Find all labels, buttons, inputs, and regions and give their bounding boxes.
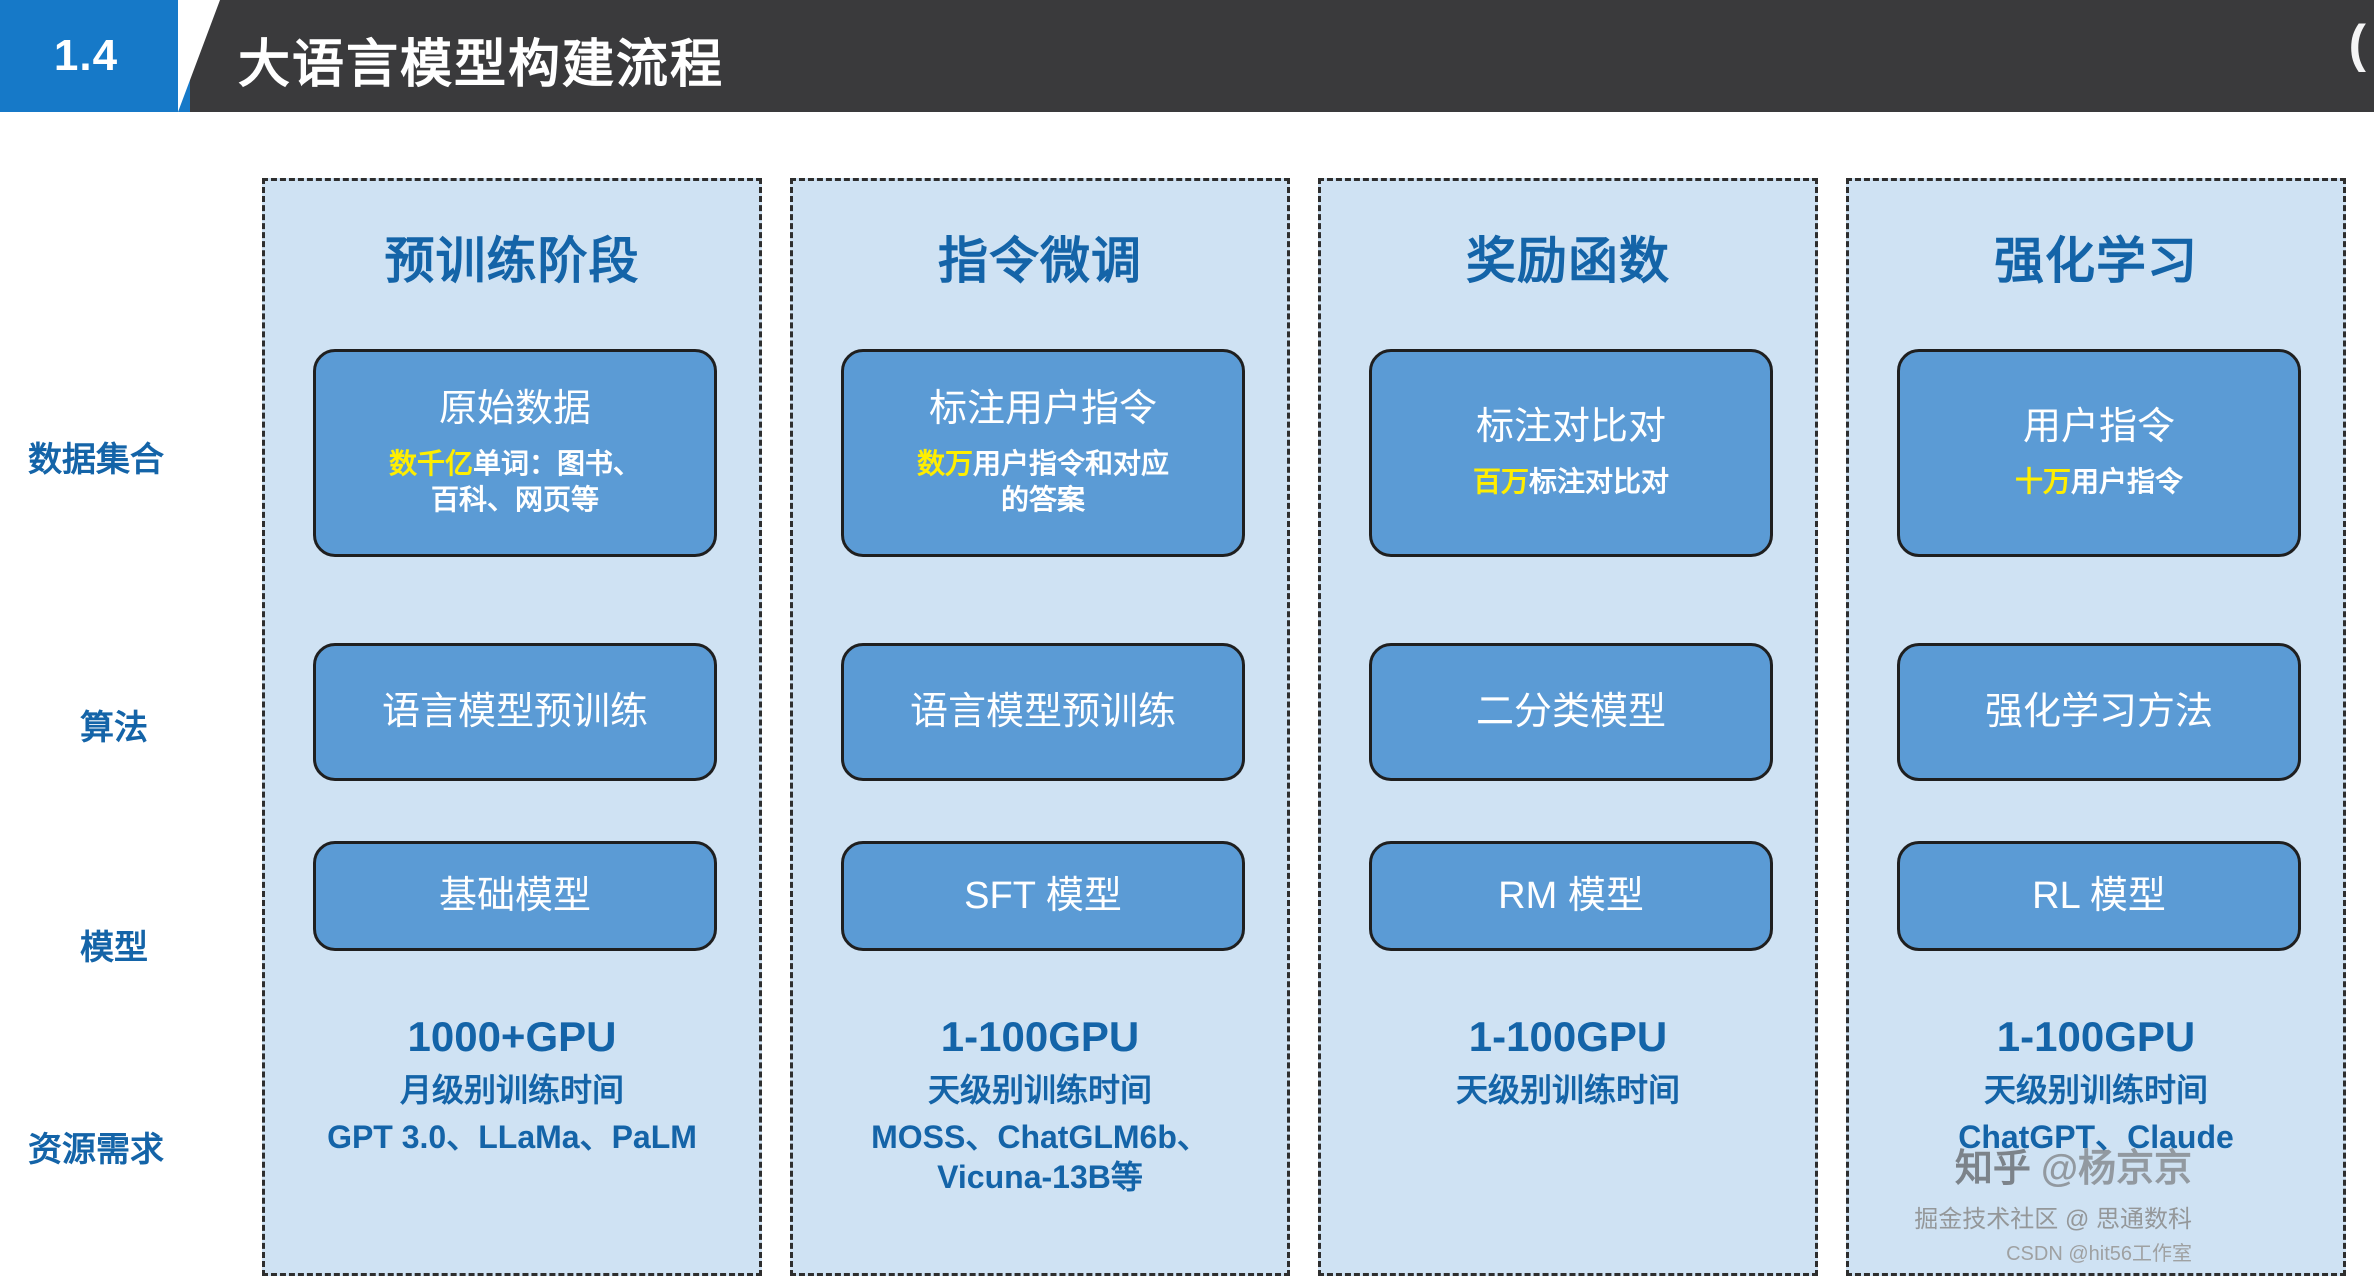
zhihu-user: @杨京京 xyxy=(2041,1148,2192,1190)
card-main-text: RM 模型 xyxy=(1498,874,1644,919)
card-model-reward[interactable]: RM 模型 xyxy=(1369,841,1773,951)
resource-block-reward: 1-100GPU 天级别训练时间 xyxy=(1321,1011,1815,1111)
card-model-rl[interactable]: RL 模型 xyxy=(1897,841,2301,951)
resource-models: MOSS、ChatGLM6b、 xyxy=(793,1117,1287,1157)
row-label-algorithm: 算法 xyxy=(80,700,148,749)
resource-models-line2: Vicuna-13B等 xyxy=(793,1157,1287,1197)
slide-root: 1.4 大语言模型构建流程 ( 数据集合 算法 模型 资源需求 预训练阶段 原始… xyxy=(0,0,2374,1276)
column-rl: 强化学习 用户指令 十万用户指令 强化学习方法 RL 模型 1-100GPU 天… xyxy=(1846,178,2346,1276)
watermark-csdn: CSDN @hit56工作室 xyxy=(2006,1237,2192,1266)
card-algorithm-pretrain[interactable]: 语言模型预训练 xyxy=(313,643,717,781)
card-main-text: 语言模型预训练 xyxy=(382,690,648,735)
resource-block-pretrain: 1000+GPU 月级别训练时间 GPT 3.0、LLaMa、PaLM xyxy=(265,1011,759,1157)
header-right-glyph: ( xyxy=(2349,14,2366,74)
column-title-reward: 奖励函数 xyxy=(1321,221,1815,293)
card-sub-line2: 的答案 xyxy=(1001,484,1085,515)
card-main-text: 强化学习方法 xyxy=(1985,690,2213,735)
card-algorithm-sft[interactable]: 语言模型预训练 xyxy=(841,643,1245,781)
card-main-text: 二分类模型 xyxy=(1476,690,1666,735)
card-main-text: 原始数据 xyxy=(439,387,591,432)
card-main-text: 用户指令 xyxy=(2023,405,2175,450)
page-title: 大语言模型构建流程 xyxy=(238,22,724,97)
resource-time: 天级别训练时间 xyxy=(1849,1070,2343,1112)
resource-gpu: 1000+GPU xyxy=(265,1011,759,1064)
card-main-text: RL 模型 xyxy=(2032,874,2166,919)
card-sub-text: 数千亿单词：图书、 百科、网页等 xyxy=(375,446,655,519)
watermark-juejin: 掘金技术社区 @ 思通数科 xyxy=(1914,1199,2192,1234)
card-data-reward[interactable]: 标注对比对 百万标注对比对 xyxy=(1369,349,1773,557)
card-algorithm-rl[interactable]: 强化学习方法 xyxy=(1897,643,2301,781)
card-sub-rest: 标注对比对 xyxy=(1529,466,1669,497)
card-sub-highlight: 十万 xyxy=(2015,466,2071,497)
card-model-sft[interactable]: SFT 模型 xyxy=(841,841,1245,951)
resource-time: 天级别训练时间 xyxy=(793,1070,1287,1112)
card-algorithm-reward[interactable]: 二分类模型 xyxy=(1369,643,1773,781)
resource-gpu: 1-100GPU xyxy=(793,1011,1287,1064)
resource-time: 月级别训练时间 xyxy=(265,1070,759,1112)
card-sub-rest: 单词：图书、 xyxy=(473,448,641,479)
header-slash-white xyxy=(178,0,220,112)
card-data-rl[interactable]: 用户指令 十万用户指令 xyxy=(1897,349,2301,557)
resource-gpu: 1-100GPU xyxy=(1321,1011,1815,1064)
card-sub-text: 百万标注对比对 xyxy=(1459,464,1683,500)
column-title-sft: 指令微调 xyxy=(793,221,1287,293)
resource-gpu: 1-100GPU xyxy=(1849,1011,2343,1064)
card-data-sft[interactable]: 标注用户指令 数万用户指令和对应 的答案 xyxy=(841,349,1245,557)
card-sub-rest: 用户指令和对应 xyxy=(973,448,1169,479)
resource-time: 天级别训练时间 xyxy=(1321,1070,1815,1112)
header-number: 1.4 xyxy=(54,31,118,81)
card-sub-highlight: 数千亿 xyxy=(389,448,473,479)
card-sub-text: 数万用户指令和对应 的答案 xyxy=(903,446,1183,519)
zhihu-logo: 知乎 xyxy=(1955,1137,2031,1192)
watermark-zhihu: 知乎@杨京京 xyxy=(1955,1137,2192,1192)
column-reward: 奖励函数 标注对比对 百万标注对比对 二分类模型 RM 模型 1-100GPU … xyxy=(1318,178,1818,1276)
card-sub-rest: 用户指令 xyxy=(2071,466,2183,497)
column-title-rl: 强化学习 xyxy=(1849,221,2343,293)
card-sub-text: 十万用户指令 xyxy=(2001,464,2197,500)
row-label-resources: 资源需求 xyxy=(28,1122,164,1171)
resource-models: GPT 3.0、LLaMa、PaLM xyxy=(265,1117,759,1157)
card-main-text: 基础模型 xyxy=(439,874,591,919)
card-sub-highlight: 数万 xyxy=(917,448,973,479)
card-main-text: 标注对比对 xyxy=(1476,405,1666,450)
column-pretrain: 预训练阶段 原始数据 数千亿单词：图书、 百科、网页等 语言模型预训练 基础模型… xyxy=(262,178,762,1276)
resource-block-sft: 1-100GPU 天级别训练时间 MOSS、ChatGLM6b、 Vicuna-… xyxy=(793,1011,1287,1197)
card-sub-highlight: 百万 xyxy=(1473,466,1529,497)
card-sub-line2: 百科、网页等 xyxy=(431,484,599,515)
card-main-text: SFT 模型 xyxy=(964,874,1122,919)
row-label-data-collection: 数据集合 xyxy=(28,432,164,481)
column-sft: 指令微调 标注用户指令 数万用户指令和对应 的答案 语言模型预训练 SFT 模型… xyxy=(790,178,1290,1276)
card-main-text: 语言模型预训练 xyxy=(910,690,1176,735)
resource-block-rl: 1-100GPU 天级别训练时间 ChatGPT、Claude xyxy=(1849,1011,2343,1157)
slide-header: 1.4 大语言模型构建流程 ( xyxy=(0,0,2374,112)
row-label-model: 模型 xyxy=(80,920,148,969)
card-model-pretrain[interactable]: 基础模型 xyxy=(313,841,717,951)
card-main-text: 标注用户指令 xyxy=(929,387,1157,432)
column-title-pretrain: 预训练阶段 xyxy=(265,221,759,293)
card-data-pretrain[interactable]: 原始数据 数千亿单词：图书、 百科、网页等 xyxy=(313,349,717,557)
